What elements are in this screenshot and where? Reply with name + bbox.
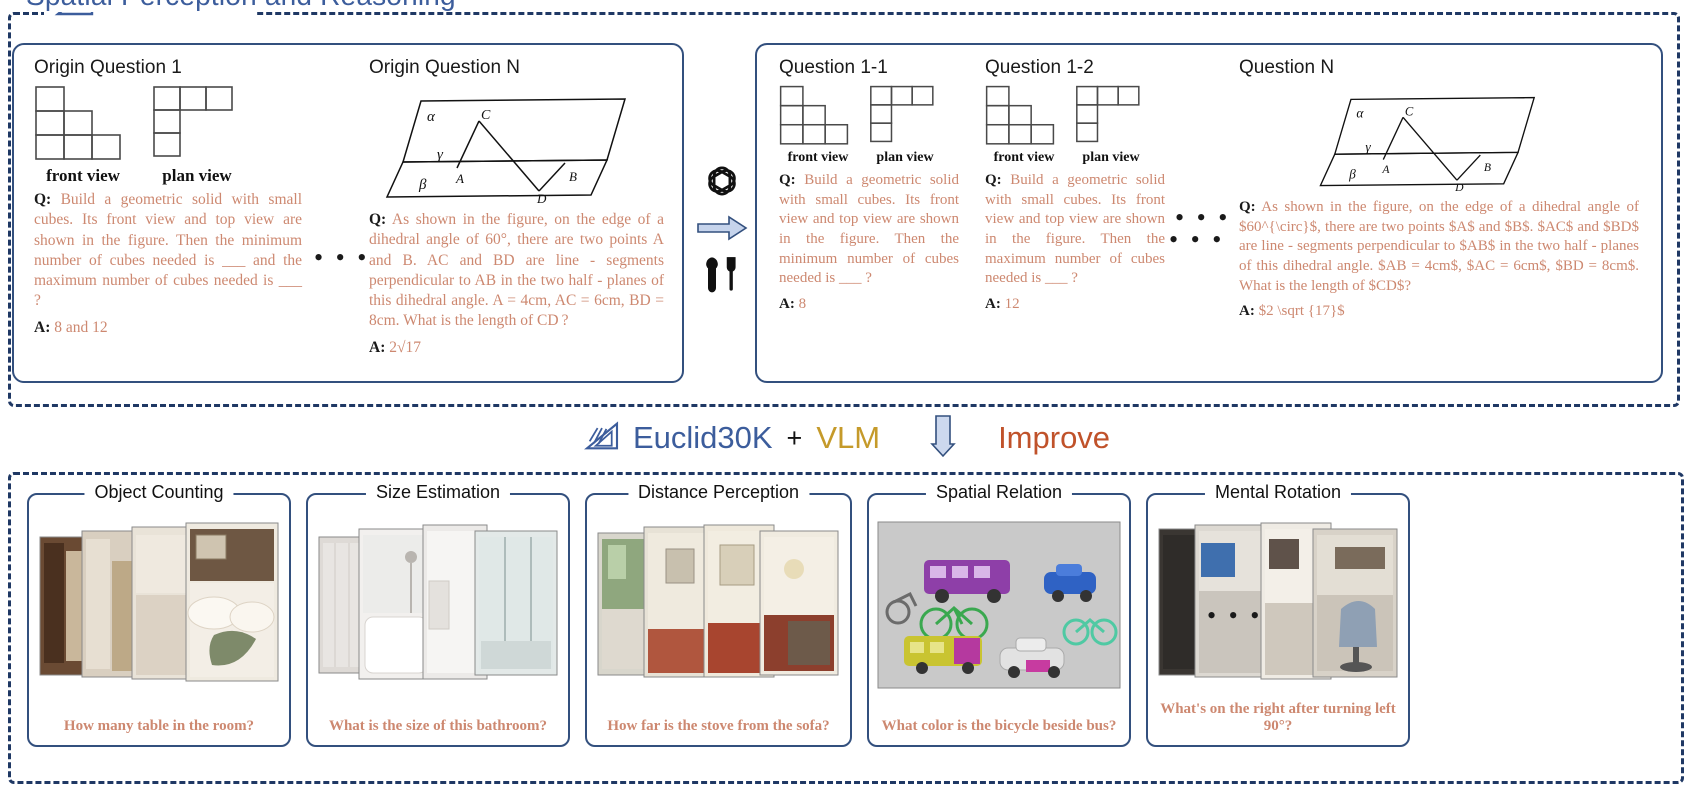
card-title: Distance Perception	[628, 482, 809, 503]
card-caption: What's on the right after turning left 9…	[1148, 701, 1408, 735]
plus-sign: +	[787, 423, 803, 454]
down-arrow-icon	[930, 414, 956, 463]
front-view-figure: front view	[34, 85, 132, 186]
a-label: A:	[369, 339, 385, 356]
card-images	[308, 517, 568, 692]
dihedral-angle-diagram-icon: α γ β C A B D	[1305, 85, 1555, 191]
a-body: 12	[1005, 296, 1020, 312]
card-images	[29, 517, 289, 692]
hotel-bedroom-photos-icon	[36, 521, 282, 689]
svg-text:B: B	[569, 169, 577, 184]
card-title: Mental Rotation	[1205, 482, 1351, 503]
card-caption: How many table in the room?	[29, 718, 289, 735]
improve-label: Improve	[998, 420, 1110, 456]
question-1-2-title: Question 1-2	[985, 57, 1165, 79]
question-1-1-title: Question 1-1	[779, 57, 959, 79]
a-body: 8	[799, 296, 807, 312]
plan-view-figure: plan view	[869, 85, 941, 166]
origin-question-n-text: Q: As shown in the figure, on the edge o…	[369, 210, 664, 332]
a-label: A:	[779, 296, 795, 312]
card-images	[869, 517, 1129, 692]
svg-text:α: α	[1356, 105, 1364, 120]
a-body: 2√17	[389, 339, 421, 356]
svg-text:A: A	[1381, 163, 1390, 176]
dihedral-angle-figure: α γ β C A B D	[1305, 85, 1639, 196]
a-body: 8 and 12	[54, 319, 107, 336]
transform-icons	[693, 160, 751, 299]
svg-text:A: A	[455, 171, 464, 186]
right-arrow-icon	[696, 215, 748, 246]
origin-questions-panel: Origin Question 1 front view	[12, 43, 684, 383]
front-view-label: front view	[994, 150, 1055, 166]
clevr-style-render-icon	[876, 520, 1122, 690]
svg-text:β: β	[418, 177, 427, 193]
q-label: Q:	[34, 191, 51, 208]
plan-view-figure: plan view	[152, 85, 242, 186]
card-images	[587, 517, 850, 692]
card-title: Spatial Relation	[926, 482, 1072, 503]
origin-question-1-title: Origin Question 1	[34, 57, 302, 79]
origin-question-1: Origin Question 1 front view	[34, 57, 302, 337]
card-distance-perception: Distance Perception	[585, 493, 852, 747]
living-room-photos-icon	[594, 521, 844, 689]
question-n-answer: A: $2 \sqrt {17}$	[1239, 303, 1639, 320]
a-body: $2 \sqrt {17}$	[1259, 303, 1345, 319]
front-view-grid-icon	[34, 85, 132, 163]
q-label: Q:	[1239, 199, 1256, 215]
question-1-2-text: Q: Build a geometric solid with small cu…	[985, 171, 1165, 289]
plan-view-label: plan view	[876, 150, 933, 166]
svg-text:β: β	[1348, 166, 1356, 181]
svg-text:γ: γ	[437, 147, 444, 163]
front-view-figure: front view	[779, 85, 857, 166]
spatial-section: Object Counting	[8, 472, 1684, 784]
front-view-label: front view	[46, 166, 120, 186]
plan-view-label: plan view	[1082, 150, 1139, 166]
q-body: Build a geometric solid with small cubes…	[985, 172, 1165, 286]
card-title: Object Counting	[84, 482, 233, 503]
question-1-2-answer: A: 12	[985, 296, 1165, 313]
card-caption: What color is the bicycle beside bus?	[869, 718, 1129, 735]
cards-separator-dots: • • •	[1207, 601, 1262, 631]
card-images	[1148, 517, 1408, 692]
svg-text:C: C	[481, 108, 491, 123]
card-spatial-relation: Spatial Relation	[867, 493, 1131, 747]
a-label: A:	[1239, 303, 1255, 319]
plan-view-grid-icon	[1075, 85, 1147, 147]
dihedral-angle-diagram-icon: α γ β C A B D	[379, 85, 639, 203]
origin-questions-separator-dots: • • •	[314, 243, 369, 273]
capability-cards: Object Counting	[27, 493, 1410, 747]
origin-question-1-figures: front view plan view	[34, 85, 302, 186]
q-body: As shown in the figure, on the edge of a…	[1239, 199, 1639, 294]
origin-question-n-answer: A: 2√17	[369, 339, 664, 357]
vlm-label: VLM	[816, 420, 880, 456]
svg-text:B: B	[1484, 161, 1491, 174]
card-caption: What is the size of this bathroom?	[308, 718, 568, 735]
openai-logo-icon	[701, 160, 743, 207]
spatial-title: Spatial Perception and Reasoning	[26, 0, 456, 12]
plan-view-grid-icon	[869, 85, 941, 147]
q-body: As shown in the figure, on the edge of a…	[369, 211, 664, 329]
q-body: Build a geometric solid with small cubes…	[779, 172, 959, 286]
generated-questions-panel: Question 1-1 front view	[755, 43, 1663, 383]
card-title: Size Estimation	[366, 482, 510, 503]
origin-question-n: Origin Question N α γ β C	[369, 57, 664, 357]
dataset-name: Euclid30K	[633, 420, 773, 456]
spatial-legend: Spatial Perception and Reasoning	[16, 0, 466, 12]
q-label: Q:	[985, 172, 1002, 188]
origin-question-1-text: Q: Build a geometric solid with small cu…	[34, 190, 302, 312]
plan-view-label: plan view	[162, 166, 231, 186]
svg-text:D: D	[1454, 181, 1464, 191]
q-body: Build a geometric solid with small cubes…	[34, 191, 302, 309]
origin-question-n-title: Origin Question N	[369, 57, 664, 79]
front-view-grid-icon	[779, 85, 857, 147]
a-label: A:	[985, 296, 1001, 312]
card-mental-rotation: Mental Rotation	[1146, 493, 1410, 747]
question-1-2-figures: front view plan view	[985, 85, 1165, 166]
improve-strip: Euclid30K + VLM Improve	[0, 412, 1693, 464]
bathroom-photos-icon	[315, 521, 561, 689]
question-n-title: Question N	[1239, 57, 1639, 79]
front-view-figure: front view	[985, 85, 1063, 166]
euclid-triangle-logo-icon	[583, 421, 621, 456]
svg-text:γ: γ	[1365, 139, 1371, 154]
question-1-1: Question 1-1 front view	[779, 57, 959, 313]
a-label: A:	[34, 319, 50, 336]
card-object-counting: Object Counting	[27, 493, 291, 747]
question-1-1-figures: front view plan view	[779, 85, 959, 166]
office-room-photos-icon	[1155, 521, 1401, 689]
wrench-screwdriver-icon	[702, 254, 742, 299]
plan-view-grid-icon	[152, 85, 242, 163]
front-view-grid-icon	[985, 85, 1063, 147]
svg-text:C: C	[1405, 105, 1414, 119]
question-1-1-answer: A: 8	[779, 296, 959, 313]
origin-question-1-answer: A: 8 and 12	[34, 319, 302, 337]
card-caption: How far is the stove from the sofa?	[587, 718, 850, 735]
q-label: Q:	[369, 211, 386, 228]
q-label: Q:	[779, 172, 796, 188]
question-n-text: Q: As shown in the figure, on the edge o…	[1239, 198, 1639, 296]
dihedral-angle-figure: α γ β C A B D	[379, 85, 664, 208]
question-n: Question N α γ β C A B D	[1239, 57, 1639, 320]
plan-view-figure: plan view	[1075, 85, 1147, 166]
question-1-2: Question 1-2 front view	[985, 57, 1165, 313]
front-view-label: front view	[788, 150, 849, 166]
question-1-1-text: Q: Build a geometric solid with small cu…	[779, 171, 959, 289]
svg-text:D: D	[536, 191, 547, 203]
card-size-estimation: Size Estimation	[306, 493, 570, 747]
svg-text:α: α	[427, 109, 436, 125]
generated-questions-separator-dots-2: • • •	[1169, 225, 1224, 255]
